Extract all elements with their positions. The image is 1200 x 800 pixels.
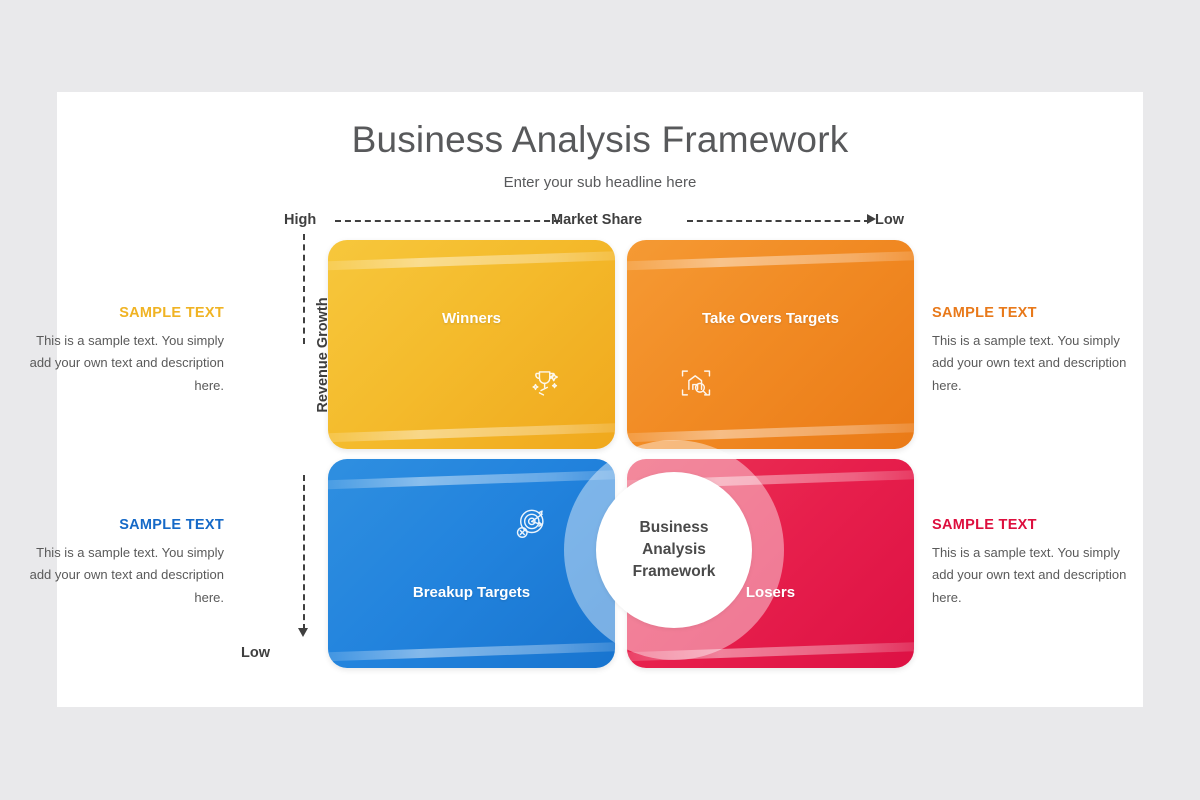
text-block-body: This is a sample text. You simply add yo… <box>932 542 1144 609</box>
x-axis-dashed-line-right <box>687 220 870 222</box>
text-block-body: This is a sample text. You simply add yo… <box>12 542 224 609</box>
text-block-heading: SAMPLE TEXT <box>12 305 224 321</box>
dartboard-icon <box>512 504 550 542</box>
text-block-top-left: SAMPLE TEXT This is a sample text. You s… <box>12 305 224 397</box>
quadrant-label: Breakup Targets <box>328 584 615 601</box>
text-block-bottom-left: SAMPLE TEXT This is a sample text. You s… <box>12 517 224 609</box>
page-title: Business Analysis Framework <box>57 119 1143 161</box>
x-axis-end-label: Low <box>875 212 904 228</box>
quadrant-winners[interactable]: Winners <box>328 240 615 449</box>
x-axis-start-label: High <box>284 212 316 228</box>
sheen-highlight <box>328 640 615 662</box>
quadrant-label: Take Overs Targets <box>627 310 914 327</box>
text-block-heading: SAMPLE TEXT <box>932 517 1144 533</box>
y-axis-arrow-icon <box>298 628 308 637</box>
y-axis-dashed-line-top <box>303 234 305 344</box>
center-circle: Business Analysis Framework <box>596 472 752 628</box>
y-axis-dashed-line-bottom <box>303 475 305 630</box>
x-axis-dashed-line-left <box>335 220 560 222</box>
x-axis-label: Market Share <box>551 212 642 228</box>
text-block-body: This is a sample text. You simply add yo… <box>932 330 1144 397</box>
sheen-highlight <box>627 640 914 662</box>
scan-building-icon <box>677 364 715 402</box>
slide-canvas: Business Analysis Framework Enter your s… <box>57 92 1143 707</box>
quadrant-label: Winners <box>328 310 615 327</box>
center-circle-text: Business Analysis Framework <box>633 517 716 583</box>
center-line-1: Business <box>633 517 716 539</box>
text-block-heading: SAMPLE TEXT <box>932 305 1144 321</box>
text-block-heading: SAMPLE TEXT <box>12 517 224 533</box>
sheen-highlight <box>328 421 615 443</box>
y-axis-end-label: Low <box>241 645 270 661</box>
page-subtitle: Enter your sub headline here <box>57 174 1143 191</box>
text-block-bottom-right: SAMPLE TEXT This is a sample text. You s… <box>932 517 1144 609</box>
trophy-icon <box>526 364 564 402</box>
center-line-2: Analysis <box>633 539 716 561</box>
sheen-highlight <box>627 249 914 271</box>
text-block-top-right: SAMPLE TEXT This is a sample text. You s… <box>932 305 1144 397</box>
quadrant-take-overs-targets[interactable]: Take Overs Targets <box>627 240 914 449</box>
quadrant-breakup-targets[interactable]: Breakup Targets <box>328 459 615 668</box>
sheen-highlight <box>627 421 914 443</box>
sheen-highlight <box>328 249 615 271</box>
sheen-highlight <box>328 468 615 490</box>
text-block-body: This is a sample text. You simply add yo… <box>12 330 224 397</box>
center-line-3: Framework <box>633 561 716 583</box>
